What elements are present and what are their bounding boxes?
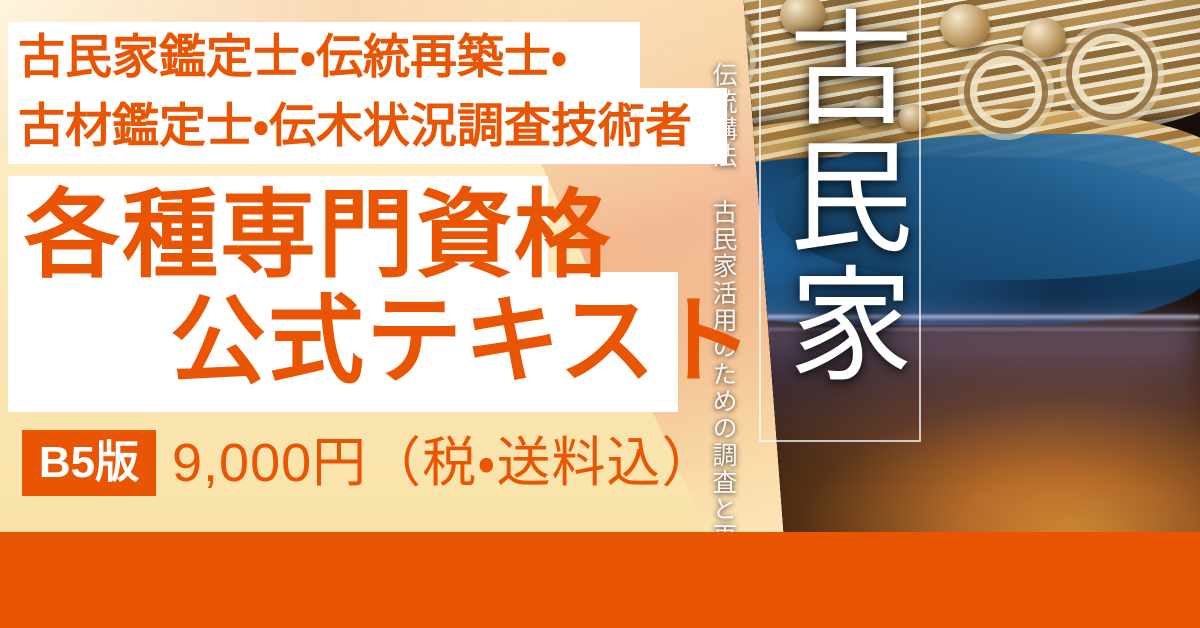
- book-cover-title: 古民家: [782, 4, 902, 434]
- title-line-2: 公式テキスト: [170, 282, 755, 402]
- heading-line-1: 古民家鑑定士・伝統再築士・: [18, 22, 738, 91]
- heading-text: 古民家鑑定士・伝統再築士・ 古材鑑定士・伝木状況調査技術者: [18, 22, 738, 164]
- heading-line-2: 古材鑑定士・伝木状況調査技術者: [18, 91, 738, 160]
- format-badge: B5版: [22, 430, 156, 496]
- promo-banner: 古民家 伝統構法 古民家活用のための調査と再生の 古民家鑑定士・伝統再築士・ 古…: [0, 0, 1200, 628]
- title-line-1: 各種専門資格: [24, 182, 612, 290]
- price-text: 9,000円（税・送料込）: [172, 429, 717, 497]
- cta-bar[interactable]: 詳細・ご購入はこちら: [0, 532, 1200, 628]
